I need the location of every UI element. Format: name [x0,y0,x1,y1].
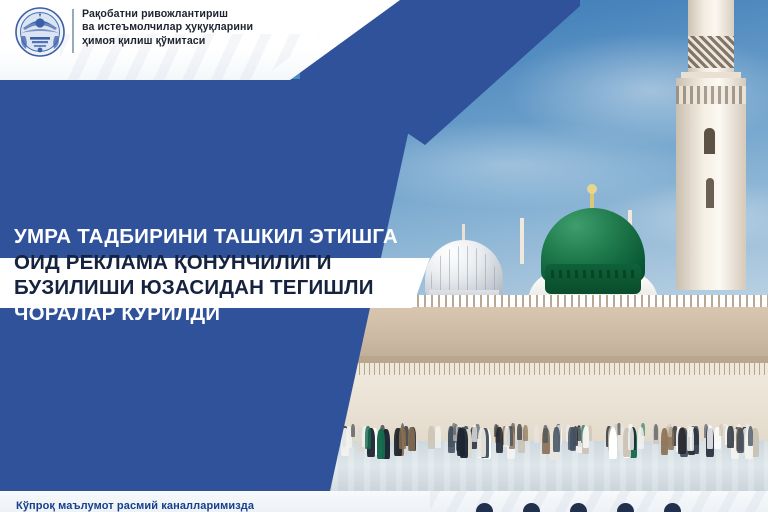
org-line-3: ҳимоя қилиш қўмитаси [82,35,312,48]
instagram-icon[interactable] [570,503,587,512]
minaret-window [704,128,715,154]
pilgrim-figure [628,427,635,450]
footer-caption: Кўпроқ маълумот расмий каналларимизда [16,500,416,512]
header-bar: Рақобатни ривожлантириш ва истеъмолчилар… [0,0,768,80]
minaret-window [706,178,714,208]
uzbekistan-state-emblem-icon [14,6,66,58]
pilgrim-figure [478,428,486,457]
org-line-1: Рақобатни ривожлантириш [82,8,312,21]
announcement-banner: Рақобатни ривожлантириш ва истеъмолчилар… [0,0,768,512]
green-dome-frieze [551,270,635,278]
twitter-icon[interactable] [664,503,681,512]
social-links[interactable] [476,503,681,512]
pilgrim-figure [693,426,699,446]
org-line-2: ва истеъмолчилар ҳуқуқларини [82,21,312,34]
pilgrim-figure [496,427,503,452]
pilgrim-figure [504,426,510,447]
pilgrim-figure [737,428,744,454]
pilgrim-figure [638,427,644,450]
pilgrim-figure [517,424,522,440]
pilgrim-figure [748,426,754,447]
pilgrim-figure [668,424,672,437]
pilgrim-figure [452,423,456,434]
pilgrim-figure [570,427,577,451]
pilgrim-figure [687,427,694,451]
organization-name: Рақобатни ривожлантириш ва истеъмолчилар… [82,8,312,48]
pilgrim-figure [678,428,685,454]
pilgrim-figure [727,426,733,448]
pilgrim-figure [583,426,589,447]
pilgrim-figure [435,426,441,447]
telegram-icon[interactable] [476,503,493,512]
pilgrim-figure [472,425,477,442]
pilgrim-figure [399,427,405,450]
pilgrim-figure [523,425,528,442]
arcade-crenellation [300,363,768,375]
pilgrim-figure [534,425,539,443]
pilgrim-figure [553,427,560,452]
youtube-icon[interactable] [617,503,634,512]
pilgrim-figure [428,426,434,448]
pilgrim-figure [719,424,723,437]
pilgrim-figure [365,426,371,448]
header-divider [72,9,74,53]
green-dome-drum [545,264,641,294]
pilgrim-figure [351,424,355,437]
headline-line-1: УМРА ТАДБИРИНИ ТАШКИЛ ЭТИШГА [14,224,444,250]
headline: УМРА ТАДБИРИНИ ТАШКИЛ ЭТИШГА ОИД РЕКЛАМА… [14,224,444,326]
pilgrim-crowd [300,404,768,464]
dome-spire [520,218,524,264]
headline-line-2: ОИД РЕКЛАМА ҚОНУНЧИЛИГИ [14,250,444,276]
pilgrim-figure [408,427,415,451]
pilgrim-figure [543,425,548,443]
pilgrim-figure [457,428,465,456]
pilgrim-figure [377,429,385,459]
green-dome [541,208,645,294]
wall-cornice [300,356,768,363]
pilgrim-figure [707,426,713,448]
pilgrim-figure [654,424,659,440]
minaret-ornament-band [676,86,746,104]
headline-line-3: БУЗИЛИШИ ЮЗАСИДАН ТЕГИШЛИ [14,275,444,301]
facebook-icon[interactable] [523,503,540,512]
headline-line-4: ЧОРАЛАР КЎРИЛДИ [14,301,444,327]
pilgrim-figure [610,427,617,451]
